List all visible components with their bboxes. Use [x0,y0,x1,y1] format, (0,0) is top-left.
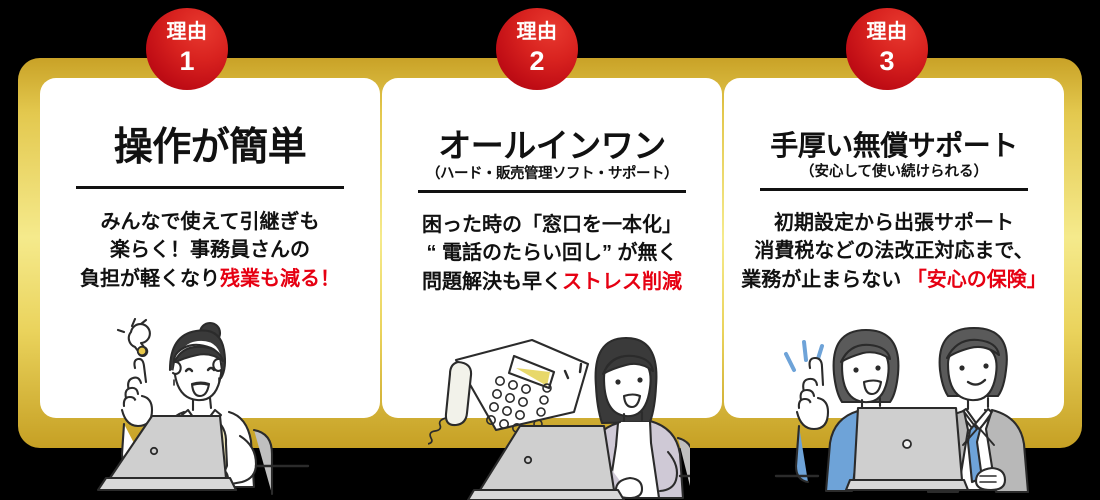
card-2-line-2: “ 電話のたらい回し” が無く [426,242,677,264]
card-1-divider [76,186,344,189]
illustration-woman-laptop-desk-phone [428,326,690,500]
card-3-line-3-emphasis: 「安心の保険」 [907,269,1047,291]
reason-badge-2-label: 理由 [496,22,578,42]
illustration-woman-and-businessman-laptop [768,316,1050,500]
card-1-line-3: 負担が軽くなり [80,268,220,290]
card-3-line-2: 消費税などの法改正対応まで、 [754,240,1033,262]
card-2-line-1: 困った時の「窓口を一本化」 [422,214,682,236]
reason-badge-1: 理由 1 [146,8,228,90]
reason-badge-2: 理由 2 [496,8,578,90]
illustration-woman-pointing-lightbulb [88,318,348,500]
reason-badge-2-number: 2 [496,48,578,75]
card-1-body: みんなで使えて引継ぎも 楽らく！事務員さんの 負担が軽くなり残業も減る！ [40,208,380,293]
reason-badge-1-label: 理由 [146,22,228,42]
card-2-line-3-emphasis: ストレス削減 [562,271,682,293]
card-3-line-1: 初期設定から出張サポート [774,212,1014,234]
card-1-heading: 操作が簡単 [40,116,380,172]
reason-badge-3-label: 理由 [846,22,928,42]
card-2-divider [418,190,686,193]
reason-badge-3: 理由 3 [846,8,928,90]
card-3-body: 初期設定から出張サポート 消費税などの法改正対応まで、 業務が止まらない 「安心… [724,209,1064,294]
promo-graphic: 操作が簡単 みんなで使えて引継ぎも 楽らく！事務員さんの 負担が軽くなり残業も減… [0,0,1100,500]
card-2-line-3: 問題解決も早く [422,271,562,293]
reason-badge-1-number: 1 [146,48,228,75]
card-1-line-2: 楽らく！事務員さんの [110,239,310,261]
card-2-body: 困った時の「窓口を一本化」 “ 電話のたらい回し” が無く 問題解決も早くストレ… [382,211,722,296]
card-2-subtitle: （ハード・販売管理ソフト・サポート） [382,162,722,183]
reason-badge-3-number: 3 [846,48,928,75]
card-2-heading: オールインワン [382,119,722,167]
card-3-line-3: 業務が止まらない [741,269,907,291]
card-3-heading: 手厚い無償サポート [724,124,1064,164]
card-1-line-1: みんなで使えて引継ぎも [101,211,320,233]
card-3-subtitle: （安心して使い続けられる） [724,160,1064,181]
card-3-divider [760,188,1028,191]
card-1-line-3-emphasis: 残業も減る！ [220,268,340,290]
